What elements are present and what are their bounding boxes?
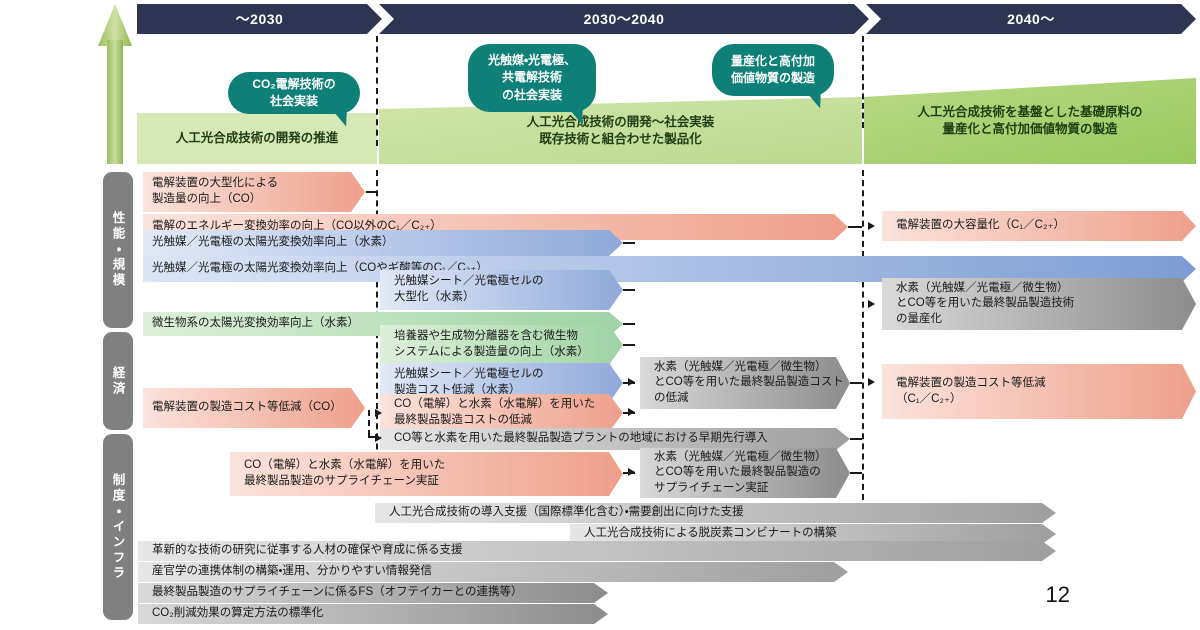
- growth-arrow-icon: [98, 4, 132, 164]
- elbow-econ-a: [368, 410, 370, 436]
- connector-tick-3: [623, 242, 635, 244]
- milestone-bubble-2: 光触媒・光電極、共電解技術の社会実装: [468, 44, 596, 112]
- bar-perf-7[interactable]: 培養器や生成物分離器を含む微生物システムによる製造量の向上（水素）: [380, 325, 623, 365]
- bar-perf-1[interactable]: 電解装置の大型化による製造量の向上（CO）: [143, 172, 365, 212]
- arrowhead-5: [628, 378, 635, 386]
- bar-infra-8[interactable]: CO₂削減効果の算定方法の標準化: [138, 604, 608, 624]
- milestone-bubble-1: CO₂電解技術の社会実装: [228, 72, 360, 114]
- timeline-period-2[interactable]: 2030～2040: [379, 4, 869, 34]
- bar-infra-6[interactable]: 産官学の連携体制の構築・運用、分かりやすい情報発信: [138, 562, 848, 582]
- arrowhead-2: [868, 300, 875, 308]
- timeline-period-1[interactable]: ～2030: [137, 4, 382, 34]
- column-divider-2040: [862, 36, 864, 128]
- bar-infra-1[interactable]: CO（電解）と水素（水電解）を用いた最終製品製造のサプライチェーン実証: [230, 452, 623, 496]
- connector-tick-4: [623, 289, 635, 291]
- bar-perf-9[interactable]: 水素（光触媒／光電極／微生物）とCO等を用いた最終製品製造技術の量産化: [882, 278, 1196, 330]
- bar-infra-7[interactable]: 最終製品製造のサプライチェーンに係るFS（オフテイカーとの連携等）: [138, 583, 608, 603]
- milestone-bubble-3: 量産化と高付加価値物質の製造: [712, 44, 834, 96]
- arrowhead-4: [628, 408, 635, 416]
- category-economy: 経済: [103, 332, 133, 430]
- column-divider-2030: [376, 36, 378, 146]
- connector-tick-9: [850, 382, 862, 384]
- bar-infra-2[interactable]: 水素（光触媒／光電極／微生物）とCO等を用いた最終製品製造のサプライチェーン実証: [640, 448, 850, 498]
- page-number: 12: [1046, 582, 1070, 608]
- connector-tick-2: [848, 226, 862, 228]
- bar-econ-3[interactable]: CO（電解）と水素（水電解）を用いた最終製品製造コストの低減: [380, 394, 623, 432]
- arrowhead-3: [868, 378, 875, 386]
- bar-econ-4[interactable]: 水素（光触媒／光電極／微生物）とCO等を用いた最終製品製造コストの低減: [640, 357, 850, 409]
- bar-econ-5[interactable]: CO等と水素を用いた最終製品製造プラントの地域における早期先行導入: [380, 428, 850, 450]
- connector-tick-1: [366, 191, 376, 193]
- category-infrastructure: 制度・インフラ: [103, 434, 133, 620]
- stage-band-2: 人工光合成技術の開発～社会実装既存技術と組合わせた製品化: [379, 97, 862, 164]
- arrowhead-1: [868, 222, 875, 230]
- stage-band-3: 人工光合成技術を基盤とした基礎原料の量産化と高付加価値物質の製造: [864, 78, 1196, 164]
- bar-infra-5[interactable]: 革新的な技術の研究に従事する人材の確保や育成に係る支援: [138, 541, 1056, 561]
- elbow-econ-b: [368, 436, 376, 438]
- category-performance: 性能・規模: [103, 172, 133, 328]
- bar-infra-3[interactable]: 人工光合成技術の導入支援（国際標準化含む）・需要創出に向けた支援: [375, 503, 1056, 523]
- bar-econ-2[interactable]: 電解装置の製造コスト等低減（CO）: [143, 388, 365, 428]
- connector-tick-5: [623, 323, 635, 325]
- growth-arrow-shaft: [107, 40, 123, 164]
- column-divider-2040-body: [862, 170, 864, 500]
- arrowhead-6: [628, 468, 635, 476]
- bar-econ-6[interactable]: 電解装置の製造コスト等低減（C₁／C₂₊）: [882, 364, 1196, 419]
- bar-perf-5[interactable]: 光触媒シート／光電極セルの大型化（水素）: [380, 270, 623, 310]
- arrowhead-7: [375, 434, 382, 442]
- roadmap-slide: ～2030 2030～2040 2040～ 人工光合成技術の開発の推進 人工光合…: [0, 0, 1200, 630]
- connector-tick-6: [623, 344, 635, 346]
- connector-tick-10: [850, 438, 862, 440]
- bar-perf-8[interactable]: 電解装置の大容量化（C₁／C₂₊）: [882, 211, 1196, 241]
- arrowhead-8: [375, 409, 382, 417]
- bar-perf-3[interactable]: 光触媒／光電極の太陽光変換効率向上（水素）: [143, 230, 623, 256]
- connector-tick-11: [850, 472, 862, 474]
- timeline-period-3[interactable]: 2040～: [866, 4, 1196, 34]
